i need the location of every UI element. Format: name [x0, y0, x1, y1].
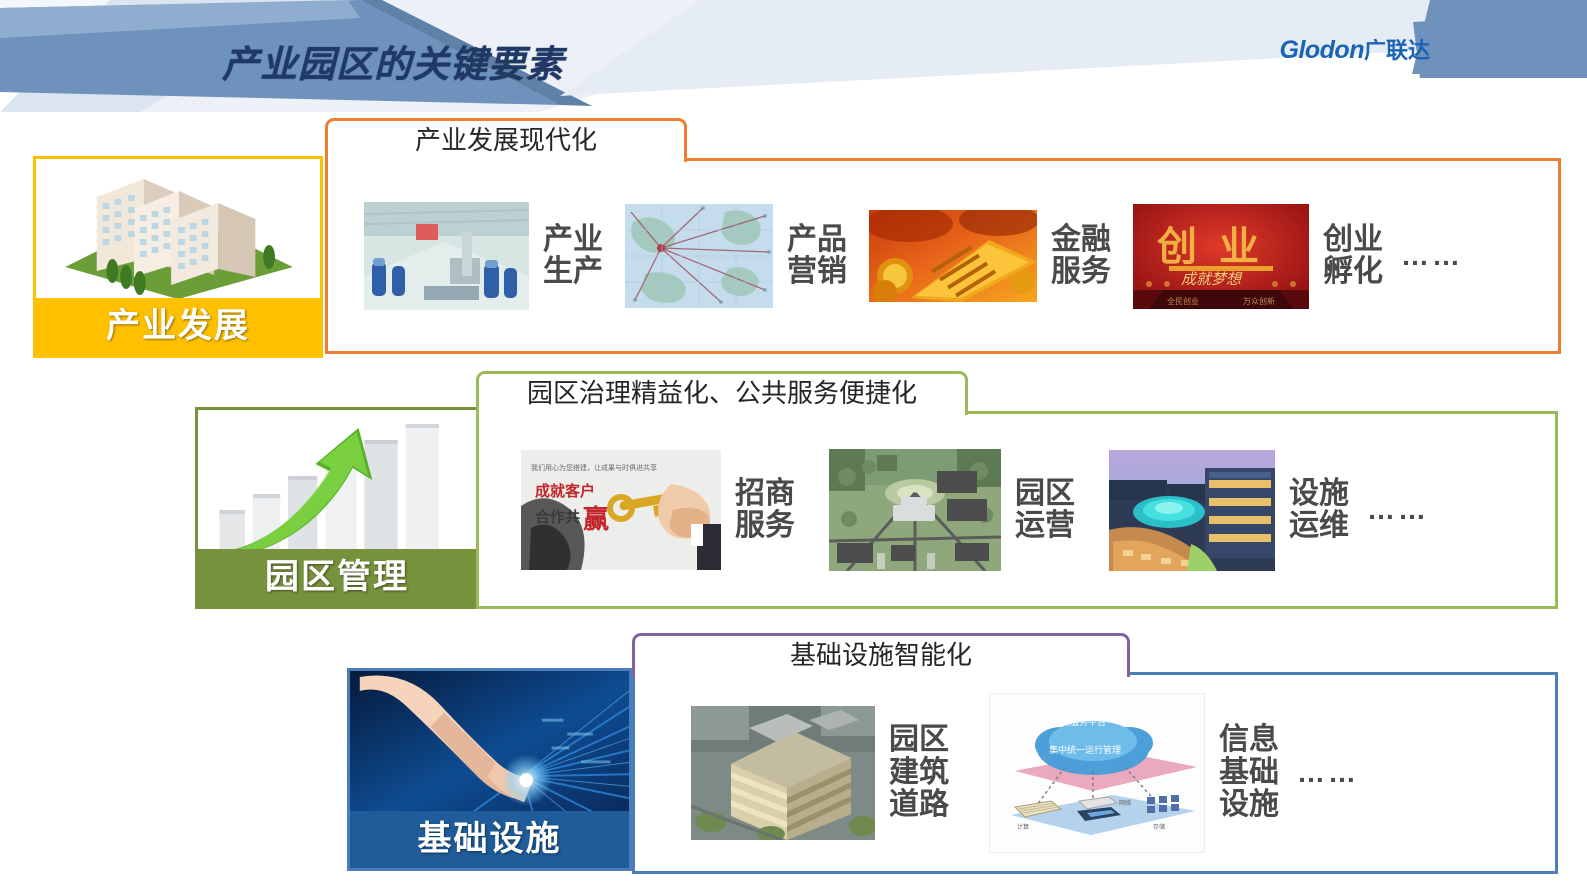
svg-text:业: 业 [1219, 224, 1259, 270]
list-item[interactable]: 产业 生产 [364, 202, 603, 310]
category-chip-industry[interactable]: 产业发展 [33, 156, 323, 358]
entrepreneurship-stage-photo: 创 业 成就梦想 全民创业 万众创新 [1133, 204, 1309, 309]
item-label: 园区 建筑 道路 [889, 724, 949, 821]
marketing-network-map-photo [625, 204, 773, 308]
slide-header: 产业园区的关键要素 Glodon广联达 [0, 0, 1587, 112]
item-label: 创业 孵化 [1323, 224, 1383, 289]
svg-text:网络: 网络 [1119, 799, 1131, 807]
svg-text:存储: 存储 [1153, 823, 1165, 831]
list-item[interactable]: 云服务平台 集中统一运行管理 计算 [989, 693, 1359, 853]
list-item[interactable]: 园区 运营 [829, 449, 1075, 571]
park-aerial-view-photo [829, 449, 1001, 571]
finance-calculator-coins-photo [869, 210, 1037, 302]
list-item[interactable]: 设施 运维 …… [1109, 450, 1429, 571]
item-list-infrastructure: 园区 建筑 道路 云服务平 [691, 675, 1359, 871]
item-label: 产业 生产 [543, 224, 603, 289]
modern-building-complex-photo [691, 706, 875, 840]
panel-tab-industry: 产业发展现代化 [325, 118, 687, 162]
brand-logo: Glodon广联达 [1280, 33, 1431, 65]
item-label: 设施 运维 [1289, 478, 1349, 543]
category-label-management: 园区管理 [198, 549, 476, 606]
svg-text:万众创新: 万众创新 [1243, 296, 1275, 306]
svg-text:集中统一运行管理: 集中统一运行管理 [1049, 744, 1121, 756]
svg-text:成就梦想: 成就梦想 [1181, 270, 1243, 288]
facility-building-night-photo [1109, 450, 1275, 571]
svg-text:我们用心为您搭建，让成果与时俱进共享: 我们用心为您搭建，让成果与时俱进共享 [531, 463, 657, 472]
category-label-industry: 产业发展 [36, 298, 320, 355]
svg-text:赢: 赢 [583, 504, 609, 535]
brand-logo-cn: 广联达 [1364, 39, 1430, 64]
svg-text:全民创业: 全民创业 [1167, 296, 1199, 306]
svg-text:云服务平台: 云服务平台 [1061, 716, 1106, 728]
office-buildings-isometric-icon [36, 159, 320, 304]
category-chip-management[interactable]: 园区管理 [195, 407, 479, 609]
green-growth-arrow-chart-icon [198, 410, 476, 555]
brand-logo-en: Glodon [1280, 36, 1364, 64]
item-label: 园区 运营 [1015, 478, 1075, 543]
panel-industry: 产业 生产 [325, 158, 1561, 354]
item-label: 产品 营销 [787, 224, 847, 289]
svg-text:成就客户: 成就客户 [535, 482, 595, 500]
item-list-industry: 产业 生产 [364, 161, 1463, 351]
category-label-infrastructure: 基础设施 [350, 811, 629, 868]
panel-tab-management: 园区治理精益化、公共服务便捷化 [476, 371, 968, 415]
panel-infrastructure: 园区 建筑 道路 云服务平 [632, 672, 1558, 874]
list-item[interactable]: 我们用心为您搭建，让成果与时俱进共享 成就客户 合作共 赢 [521, 450, 795, 570]
panel-management: 我们用心为您搭建，让成果与时俱进共享 成就客户 合作共 赢 [476, 411, 1558, 609]
factory-production-line-photo [364, 202, 529, 310]
category-chip-infrastructure[interactable]: 基础设施 [347, 668, 632, 871]
page-title: 产业园区的关键要素 [222, 34, 564, 88]
svg-text:计算: 计算 [1017, 823, 1029, 831]
item-label: 信息 基础 设施 [1219, 724, 1279, 821]
list-item[interactable]: 创 业 成就梦想 全民创业 万众创新 创业 孵化 [1133, 204, 1463, 309]
cloud-platform-architecture-diagram: 云服务平台 集中统一运行管理 计算 [989, 693, 1205, 853]
list-item[interactable]: 金融 服务 [869, 210, 1111, 302]
item-label: 金融 服务 [1051, 224, 1111, 289]
more-ellipsis: …… [1367, 494, 1429, 526]
svg-text:合作共: 合作共 [534, 508, 580, 526]
list-item[interactable]: 产品 营销 [625, 204, 847, 308]
list-item[interactable]: 园区 建筑 道路 [691, 706, 949, 840]
golden-key-handshake-photo: 我们用心为您搭建，让成果与时俱进共享 成就客户 合作共 赢 [521, 450, 721, 570]
more-ellipsis: …… [1297, 757, 1359, 789]
finger-touch-digital-light-photo [350, 671, 629, 816]
panel-tab-infrastructure: 基础设施智能化 [632, 633, 1130, 677]
item-list-management: 我们用心为您搭建，让成果与时俱进共享 成就客户 合作共 赢 [521, 414, 1429, 606]
more-ellipsis: …… [1401, 240, 1463, 272]
svg-text:创: 创 [1157, 224, 1197, 270]
item-label: 招商 服务 [735, 478, 795, 543]
